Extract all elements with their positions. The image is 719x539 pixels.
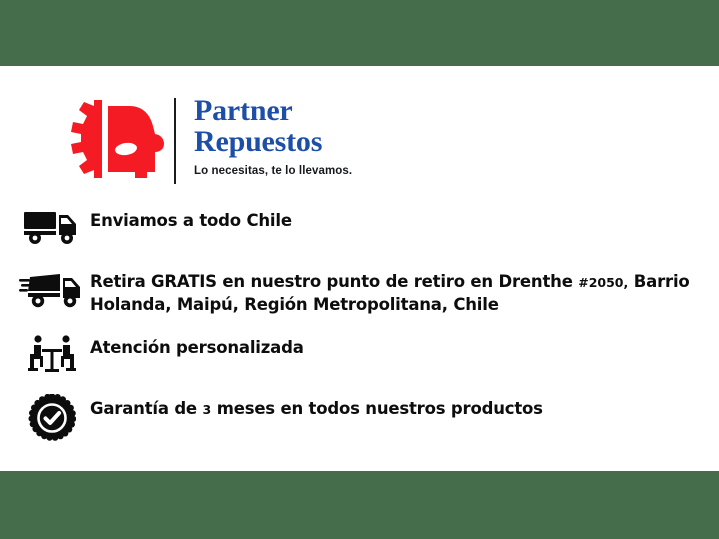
fast-delivery-truck-icon xyxy=(14,267,90,315)
feature-text-part: meses en todos nuestros productos xyxy=(211,399,543,418)
gear-car-logo-icon xyxy=(58,92,166,184)
feature-text-part-small: #2050, xyxy=(578,275,628,290)
guarantee-badge-check-icon xyxy=(14,394,90,442)
delivery-truck-icon xyxy=(14,206,90,250)
feature-text-part: Garantía de xyxy=(90,399,202,418)
feature-text-part: Retira GRATIS en nuestro punto de retiro… xyxy=(90,272,578,291)
brand-name-line-2: Repuestos xyxy=(194,126,352,157)
feature-text-pickup: Retira GRATIS en nuestro punto de retiro… xyxy=(90,267,704,316)
feature-text-part-small: 3 xyxy=(202,402,211,417)
feature-item-shipping: Enviamos a todo Chile xyxy=(14,206,704,250)
logo-divider xyxy=(174,98,176,184)
feature-text-part: Enviamos a todo Chile xyxy=(90,211,292,230)
promo-banner: Partner Repuestos Lo necesitas, te lo ll… xyxy=(0,0,719,539)
feature-text-support: Atención personalizada xyxy=(90,333,304,359)
brand-logo: Partner Repuestos Lo necesitas, te lo ll… xyxy=(58,92,352,184)
feature-text-part: Atención personalizada xyxy=(90,338,304,357)
brand-text: Partner Repuestos Lo necesitas, te lo ll… xyxy=(194,92,352,177)
feature-text-shipping: Enviamos a todo Chile xyxy=(90,206,292,232)
feature-item-support: Atención personalizada xyxy=(14,333,704,377)
top-green-band xyxy=(0,0,719,66)
brand-tagline: Lo necesitas, te lo llevamos. xyxy=(194,165,352,177)
feature-item-pickup: Retira GRATIS en nuestro punto de retiro… xyxy=(14,267,704,316)
brand-name-line-1: Partner xyxy=(194,95,352,126)
consultation-table-icon xyxy=(14,333,90,377)
feature-text-warranty: Garantía de 3 meses en todos nuestros pr… xyxy=(90,394,543,421)
feature-item-warranty: Garantía de 3 meses en todos nuestros pr… xyxy=(14,394,704,442)
bottom-green-band xyxy=(0,471,719,539)
feature-list: Enviamos a todo Chile xyxy=(14,206,704,459)
